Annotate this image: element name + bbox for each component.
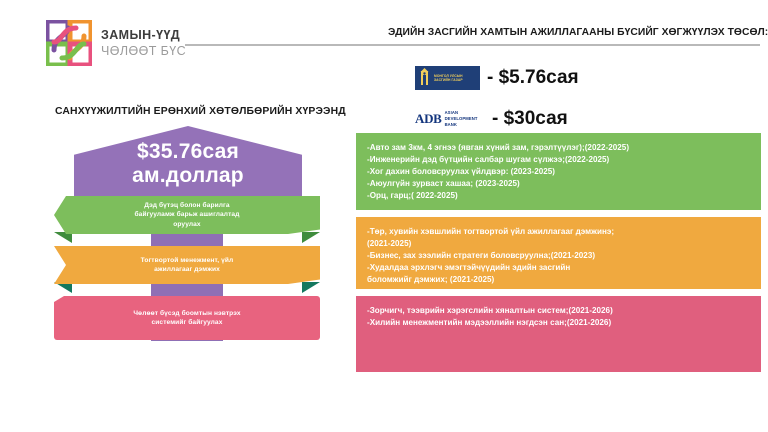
list-item: -Төр, хувийн хэвшлийн тогтвортой үйл ажи… xyxy=(367,226,751,238)
slide-canvas: ЗАМЫН-ҮҮД ЧӨЛӨӨТ БҮС ЭДИЙН ЗАСГИЙН ХАМТЫ… xyxy=(0,0,768,432)
list-item: -Зорчигч, тээврийн хэрэгслийн хяналтын с… xyxy=(367,305,751,317)
mongolia-government-emblem-icon: МОНГОЛ УЛСЫН ЗАСГИЙН ГАЗАР xyxy=(415,66,480,90)
adb-amount: - $30сая xyxy=(492,108,568,130)
list-item: (2021-2025) xyxy=(367,238,751,250)
house-band-management: Тогтвортой менежмент, үйл ажиллагааг дэм… xyxy=(54,246,320,284)
panel-management: -Төр, хувийн хэвшлийн тогтвортой үйл ажи… xyxy=(356,217,761,289)
list-item: -Бизнес, зах зээлийн стратеги боловсруул… xyxy=(367,250,751,262)
brand-text: ЗАМЫН-ҮҮД ЧӨЛӨӨТ БҮС xyxy=(101,29,186,57)
roof-amount: $35.76сая xyxy=(74,140,302,164)
house-roof-text: $35.76сая ам.доллар xyxy=(74,140,302,187)
list-item: -Авто зам 3км, 4 эгнээ (явган хүний зам,… xyxy=(367,142,751,154)
gov-logo-words: МОНГОЛ УЛСЫН ЗАСГИЙН ГАЗАР xyxy=(434,74,463,82)
band-orange-line2: ажиллагааг дэмжих xyxy=(141,265,234,274)
adb-logo-icon: ADB ASIAN DEVELOPMENT BANK xyxy=(415,108,485,131)
brand-subtitle: ЧӨЛӨӨТ БҮС xyxy=(101,45,186,58)
band-green-line3: оруулах xyxy=(135,220,240,229)
list-item: боломжийг дэмжих; (2021-2025) xyxy=(367,274,751,286)
adb-logo-words: ASIAN DEVELOPMENT BANK xyxy=(445,110,478,127)
list-item: -Аюулгүйн зурваст хашаа; (2023-2025) xyxy=(367,178,751,190)
green-band-fold-right xyxy=(302,232,320,243)
header-divider xyxy=(185,44,760,46)
panel-border-system: -Зорчигч, тээврийн хэрэгслийн хяналтын с… xyxy=(356,296,761,372)
band-green-line1: Дэд бүтэц болон барилга xyxy=(135,201,240,210)
band-pink-line2: системийг байгуулах xyxy=(133,318,240,327)
list-item: -Инженерийн дэд бүтцийн салбар шугам сүл… xyxy=(367,154,751,166)
orange-band-fold-right xyxy=(302,282,320,293)
brand-block: ЗАМЫН-ҮҮД ЧӨЛӨӨТ БҮС xyxy=(46,18,346,68)
brand-name: ЗАМЫН-ҮҮД xyxy=(101,29,186,42)
list-item: -Орц, гарц;( 2022-2025) xyxy=(367,190,751,202)
funding-row-adb: ADB ASIAN DEVELOPMENT BANK - $30сая xyxy=(415,104,745,134)
roof-currency: ам.доллар xyxy=(74,164,302,188)
left-section-heading: САНХҮҮЖИЛТИЙН ЕРӨНХИЙ ХӨТӨЛБӨРИЙН ХҮРЭЭН… xyxy=(55,106,346,117)
government-amount: - $5.76сая xyxy=(487,67,579,89)
list-item: -Хилийн менежментийн мэдээллийн нэгдсэн … xyxy=(367,317,751,329)
list-item: -Хог дахин боловсруулах үйлдвэр: (2023-2… xyxy=(367,166,751,178)
funding-house-diagram: $35.76сая ам.доллар Дэд бүтэц болон бари… xyxy=(38,126,338,341)
adb-logo-line3: BANK xyxy=(445,122,478,128)
band-orange-line1: Тогтвортой менежмент, үйл xyxy=(141,256,234,265)
house-band-infrastructure: Дэд бүтэц болон барилга байгууламж барьж… xyxy=(54,196,320,234)
funding-row-government: МОНГОЛ УЛСЫН ЗАСГИЙН ГАЗАР - $5.76сая xyxy=(415,63,745,93)
zamyn-uud-knot-logo-icon xyxy=(46,20,92,66)
panel-infrastructure: -Авто зам 3км, 4 эгнээ (явган хүний зам,… xyxy=(356,133,761,210)
list-item: -Худалдаа эрхлэгч эмэгтэйчүүдийн эдийн з… xyxy=(367,262,751,274)
page-title: ЭДИЙН ЗАСГИЙН ХАМТЫН АЖИЛЛАГААНЫ БҮСИЙГ … xyxy=(388,27,762,38)
band-green-line2: байгууламж барьж ашиглалтад xyxy=(135,210,240,219)
adb-mark: ADB xyxy=(415,111,442,127)
band-pink-line1: Чөлөөт бүсэд боомтын нэвтрэх xyxy=(133,309,240,318)
house-band-border-system: Чөлөөт бүсэд боомтын нэвтрэх системийг б… xyxy=(54,296,320,340)
gov-logo-line2: ЗАСГИЙН ГАЗАР xyxy=(434,78,463,82)
adb-logo-line2: DEVELOPMENT xyxy=(445,116,478,122)
